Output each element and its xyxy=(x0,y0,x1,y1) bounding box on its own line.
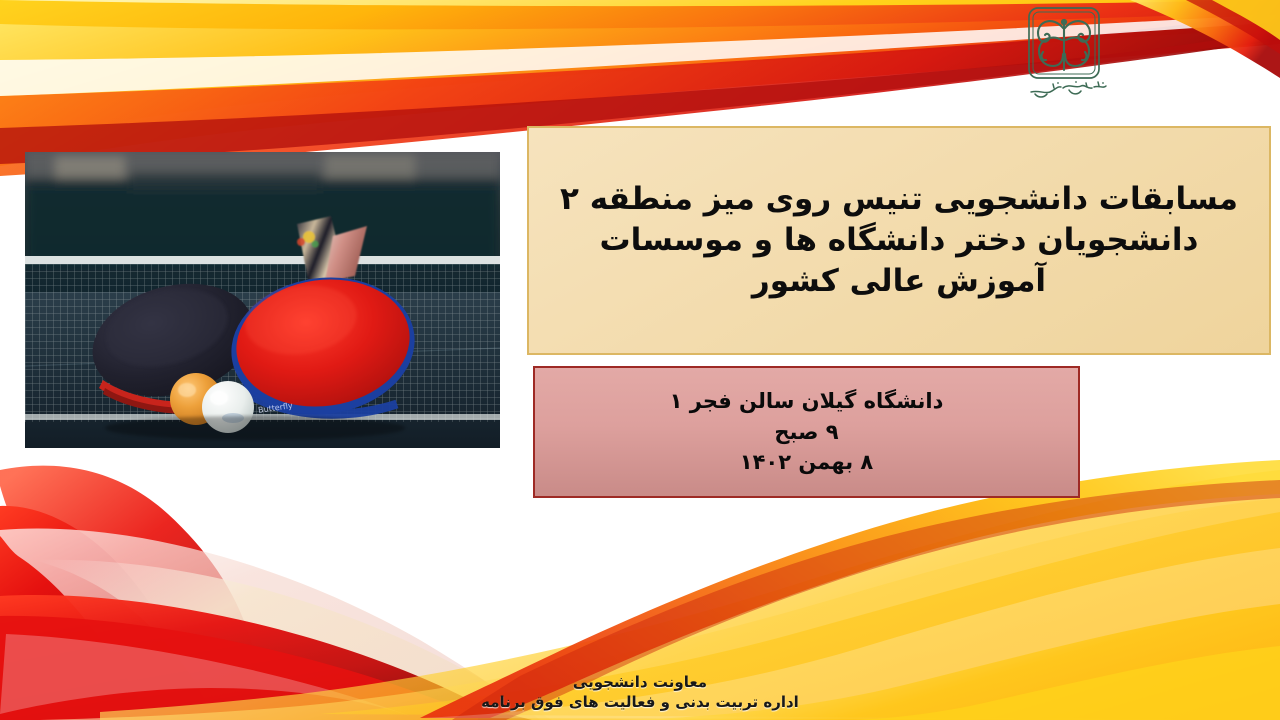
venue-time: ۹ صبح xyxy=(535,417,1078,447)
venue-location: دانشگاه گیلان سالن فجر ۱ xyxy=(535,386,1078,416)
poster-title: مسابقات دانشجویی تنیس روی میز منطقه ۲ دا… xyxy=(529,179,1269,303)
table-tennis-photo: Butterfly xyxy=(25,152,500,448)
university-of-gilan-logo xyxy=(1019,4,1117,108)
footer-line-1: معاونت دانشجویی xyxy=(0,672,1280,692)
venue-details-box: دانشگاه گیلان سالن فجر ۱ ۹ صبح ۸ بهمن ۱۴… xyxy=(533,366,1080,498)
poster-canvas: Butterfly مسابقات دانشجویی تنیس روی میز … xyxy=(0,0,1280,720)
venue-date: ۸ بهمن ۱۴۰۲ xyxy=(535,447,1078,477)
title-box: مسابقات دانشجویی تنیس روی میز منطقه ۲ دا… xyxy=(527,126,1271,355)
title-line-1: مسابقات دانشجویی تنیس روی میز منطقه ۲ xyxy=(543,179,1255,220)
title-line-3: آموزش عالی کشور xyxy=(543,261,1255,302)
footer-credits: معاونت دانشجویی اداره تربیت بدنی و فعالی… xyxy=(0,672,1280,713)
title-line-2: دانشجویان دختر دانشگاه ها و موسسات xyxy=(543,220,1255,261)
footer-line-2: اداره تربیت بدنی و فعالیت های فوق برنامه xyxy=(0,692,1280,712)
